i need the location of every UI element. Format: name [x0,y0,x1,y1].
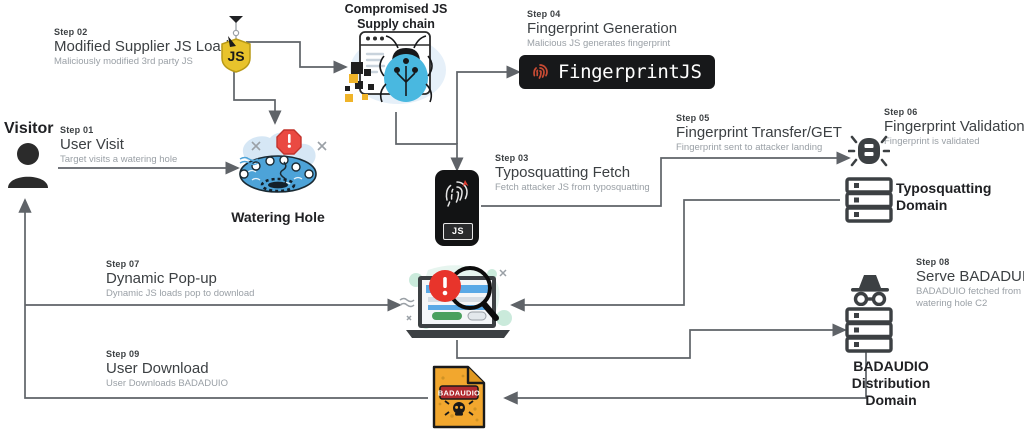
step-05-block: Step 05 Fingerprint Transfer/GET Fingerp… [676,112,842,154]
step-09-subtitle: User Downloads BADADUIO [106,378,228,390]
step-03-subtitle: Fetch attacker JS from typosquatting [495,182,650,194]
step-07-number: Step 07 [106,258,254,270]
step-02-subtitle: Maliciously modified 3rd party JS [54,56,229,68]
typosquatting-domain-label: Typosquatting Domain [896,180,1018,214]
typosquatting-domain-line2: Domain [896,197,1018,214]
step-09-title: User Download [106,360,228,378]
step-07-block: Step 07 Dynamic Pop-up Dynamic JS loads … [106,258,254,300]
attack-chain-diagram: Step 01 User Visit Target visits a water… [0,0,1024,433]
visitor-label: Visitor [4,120,54,138]
fingerprintjs-badge[interactable]: FingerprintJS [519,55,715,89]
fingerprint-js-tile-icon: JS [435,170,479,246]
step-07-title: Dynamic Pop-up [106,270,254,288]
step-06-block: Step 06 Fingerprint Validation Fingerpri… [884,106,1024,148]
alert-badge-icon [429,270,461,302]
step-06-subtitle: Fingerprint is validated [884,136,1024,148]
step-04-block: Step 04 Fingerprint Generation Malicious… [527,8,677,50]
malicious-file-icon: BADAUDIO [430,364,488,430]
step-08-title: Serve BADADUIO [916,268,1024,286]
step-06-number: Step 06 [884,106,1024,118]
step-05-subtitle: Fingerprint sent to attacker landing [676,142,842,154]
step-04-number: Step 04 [527,8,677,20]
step-01-block: Step 01 User Visit Target visits a water… [60,124,177,166]
fingerprint-scan-icon [435,172,479,230]
badaudio-file-label: BADAUDIO [438,389,480,398]
step-09-block: Step 09 User Download User Downloads BAD… [106,348,228,390]
badaudio-domain-line1: BADAUDIO [820,358,962,375]
badaudio-domain-line2: Distribution [820,375,962,392]
supply-chain-label-line1: Compromised JS [330,2,462,17]
svg-text:JS: JS [227,48,244,64]
step-01-title: User Visit [60,136,177,154]
badaudio-domain-line3: Domain [820,392,962,409]
step-08-block: Step 08 Serve BADADUIO BADADUIO fetched … [916,256,1024,310]
badaudio-domain-label: BADAUDIO Distribution Domain [820,358,962,409]
person-icon [6,140,50,190]
step-09-number: Step 09 [106,348,228,360]
watering-hole-label: Watering Hole [210,209,346,226]
typosquatting-domain-line1: Typosquatting [896,180,1018,197]
step-01-subtitle: Target visits a watering hole [60,154,177,166]
step-03-title: Typosquatting Fetch [495,164,650,182]
step-02-title: Modified Supplier JS Load [54,38,229,56]
step-02-number: Step 02 [54,26,229,38]
fingerprintjs-label: FingerprintJS [558,61,702,83]
fingerprint-icon [529,61,551,83]
alert-badge-icon [277,130,301,154]
step-04-title: Fingerprint Generation [527,20,677,38]
step-03-number: Step 03 [495,152,650,164]
badaudio-server-icon [843,306,895,354]
watering-hole-icon [222,122,334,204]
step-08-subtitle: BADADUIO fetched from watering hole C2 [916,286,1024,310]
step-01-number: Step 01 [60,124,177,136]
step-05-title: Fingerprint Transfer/GET [676,124,842,142]
step-03-block: Step 03 Typosquatting Fetch Fetch attack… [495,152,650,194]
tsq-js-label: JS [443,223,473,240]
step-07-subtitle: Dynamic JS loads pop to download [106,288,254,300]
js-shield-icon: JS [216,14,256,76]
step-06-title: Fingerprint Validation [884,118,1024,136]
laptop-popup-magnifier-icon [392,252,526,348]
typosquatting-server-icon [843,176,895,224]
browser-bug-icon [340,26,452,116]
server-spy-icon [845,272,895,306]
step-05-number: Step 05 [676,112,842,124]
server-bug-icon [848,134,890,168]
step-08-number: Step 08 [916,256,1024,268]
step-02-block: Step 02 Modified Supplier JS Load Malici… [54,26,229,68]
step-04-subtitle: Malicious JS generates fingerprint [527,38,677,50]
